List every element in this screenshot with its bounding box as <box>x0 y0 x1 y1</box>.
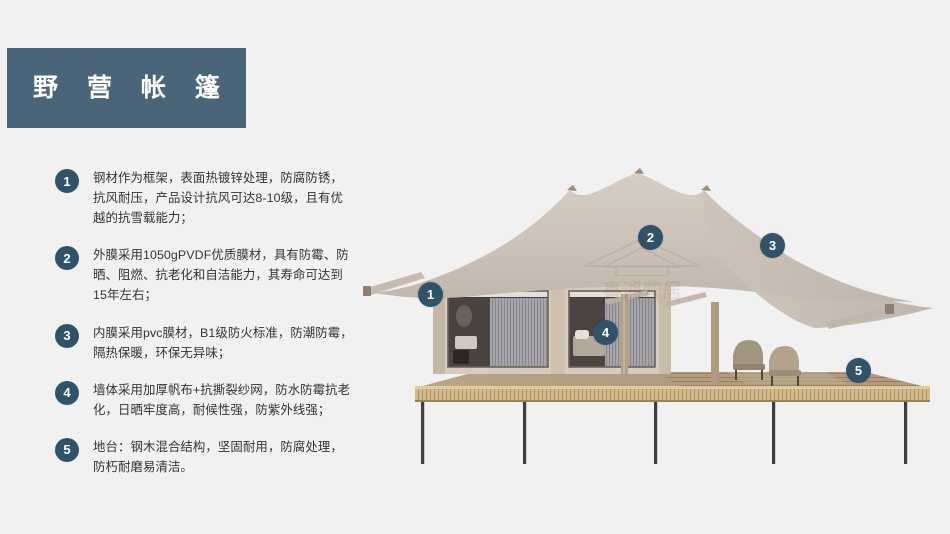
page-title-block: 野 营 帐 篷 <box>7 48 246 128</box>
list-item: 2 外膜采用1050gPVDF优质膜材，具有防霉、防晒、阻燃、抗老化和自洁能力，… <box>55 245 355 305</box>
list-item: 3 内膜采用pvc膜材，B1级防火标准，防潮防霉，隔热保暖，环保无异味； <box>55 323 355 363</box>
feature-text-5: 地台：钢木混合结构，坚固耐用，防腐处理，防朽耐磨易清洁。 <box>93 437 355 477</box>
feature-text-2: 外膜采用1050gPVDF优质膜材，具有防霉、防晒、阻燃、抗老化和自洁能力，其寿… <box>93 245 355 305</box>
callout-badge-1[interactable]: 1 <box>418 282 443 307</box>
feature-text-1: 钢材作为框架，表面热镀锌处理，防腐防锈，抗风耐压，产品设计抗风可达8-10级，且… <box>93 168 355 228</box>
callout-badge-3[interactable]: 3 <box>760 233 785 258</box>
feature-list: 1 钢材作为框架，表面热镀锌处理，防腐防锈，抗风耐压，产品设计抗风可达8-10级… <box>55 168 355 477</box>
list-item: 4 墙体采用加厚帆布+抗撕裂纱网，防水防霉抗老化，日晒牢度高，耐候性强，防紫外线… <box>55 380 355 420</box>
feature-text-3: 内膜采用pvc膜材，B1级防火标准，防潮防霉，隔热保暖，环保无异味； <box>93 323 355 363</box>
feature-text-4: 墙体采用加厚帆布+抗撕裂纱网，防水防霉抗老化，日晒牢度高，耐候性强，防紫外线强； <box>93 380 355 420</box>
callout-badge-2[interactable]: 2 <box>638 225 663 250</box>
feature-badge-5: 5 <box>55 438 79 462</box>
callout-badge-5[interactable]: 5 <box>846 358 871 383</box>
slide-canvas: 野 营 帐 篷 1 钢材作为框架，表面热镀锌处理，防腐防锈，抗风耐压，产品设计抗… <box>0 0 950 534</box>
tent-illustration <box>355 150 950 470</box>
feature-badge-3: 3 <box>55 324 79 348</box>
deck-leg <box>772 402 775 464</box>
terrace-pole-right <box>711 302 719 384</box>
deck-leg <box>654 402 657 464</box>
list-item: 1 钢材作为框架，表面热镀锌处理，防腐防锈，抗风耐压，产品设计抗风可达8-10级… <box>55 168 355 228</box>
tent-graphic <box>355 150 950 470</box>
feature-badge-1: 1 <box>55 169 79 193</box>
deck-leg <box>421 402 424 464</box>
list-item: 5 地台：钢木混合结构，坚固耐用，防腐处理，防朽耐磨易清洁。 <box>55 437 355 477</box>
deck-leg <box>523 402 526 464</box>
feature-badge-4: 4 <box>55 381 79 405</box>
feature-badge-2: 2 <box>55 246 79 270</box>
deck-leg <box>904 402 907 464</box>
tent-canopy-wing <box>703 190 933 328</box>
page-title: 野 营 帐 篷 <box>33 76 231 101</box>
callout-badge-4[interactable]: 4 <box>593 320 618 345</box>
